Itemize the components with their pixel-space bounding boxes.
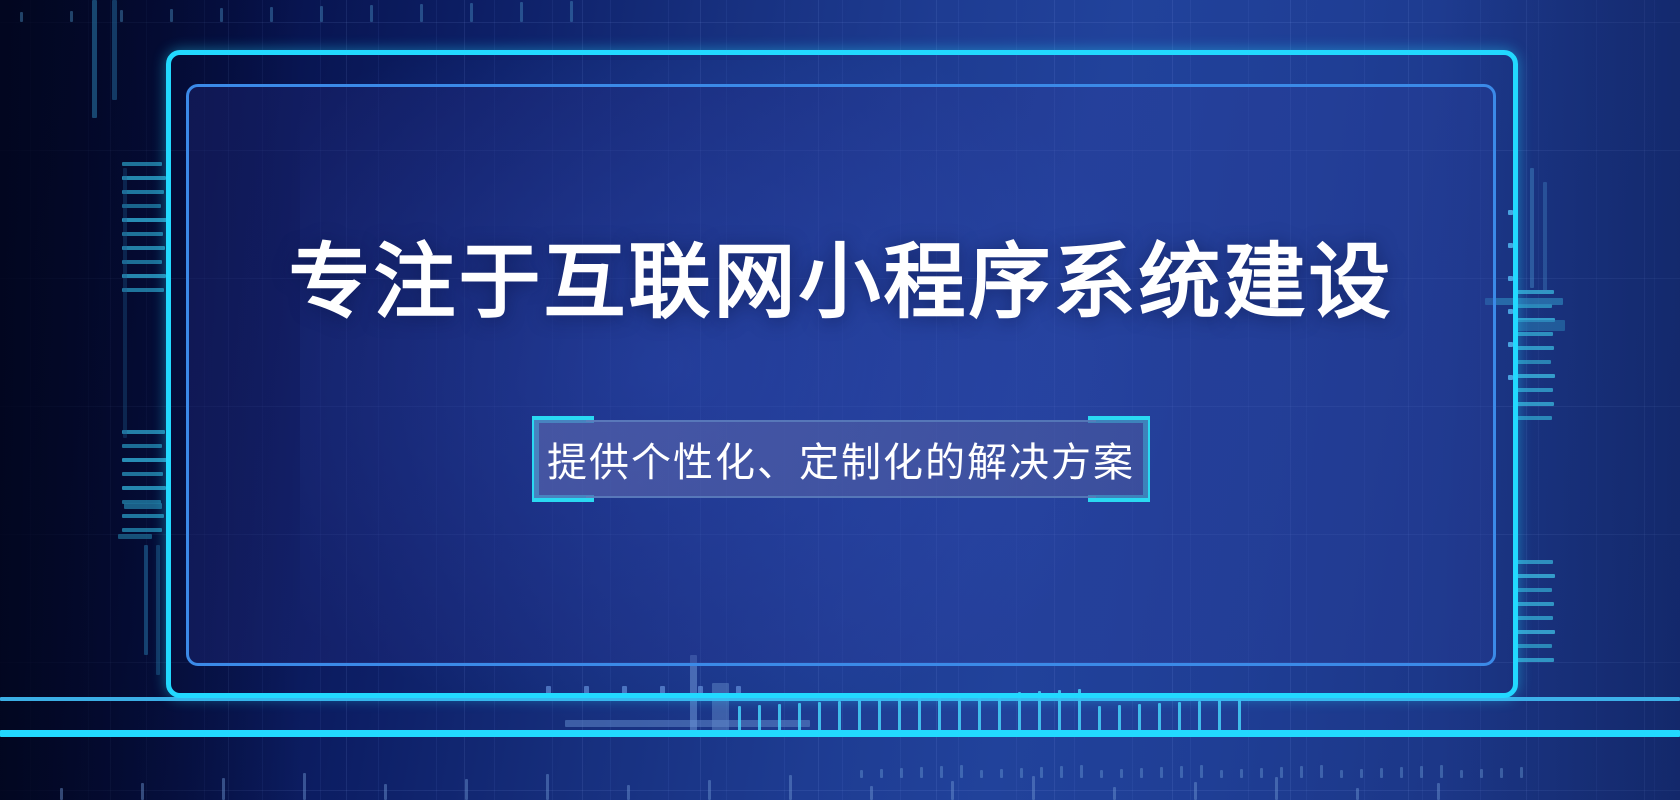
tick-mark [141,783,144,800]
tick-mark [1360,769,1363,778]
tick-mark [1194,782,1197,800]
tick-rung [122,500,161,504]
tick-mark [1280,767,1283,778]
tick-rung [122,486,166,490]
tick-mark [303,773,306,800]
tick-rung [1516,402,1554,406]
tick-rung [122,176,166,180]
hero-banner: 专注于互联网小程序系统建设 提供个性化、定制化的解决方案 [0,0,1680,800]
tick-rung [1516,644,1552,648]
accent-bar-right-wide [1485,298,1563,305]
tick-mark [1275,777,1278,800]
dot-column-right [1508,210,1513,408]
tick-mark [880,769,883,778]
tick-mark [1113,787,1116,800]
tick-row-bottom [738,688,1241,732]
tick-rung [122,472,163,476]
tick-mark [1480,769,1483,778]
tick-mark [870,786,873,800]
tick-mark [1100,770,1103,778]
dot-marker [1508,210,1513,215]
accent-bar-left-vert [144,545,148,655]
accent-bar-bottom-wide [565,720,810,727]
tick-mark [1380,768,1383,778]
accent-bar-tl-1 [92,0,97,118]
tick-mark [1220,770,1223,778]
tick-mark [818,702,821,732]
tick-rung [1516,630,1555,634]
accent-bar-left-vert-2 [156,545,160,675]
tick-ladder-right-upper [1516,290,1555,430]
tick-mark [546,774,549,800]
tick-mark [1198,701,1201,732]
tick-mark [1138,704,1141,732]
tick-row-top [20,0,573,22]
accent-bar-tl-2 [112,0,117,100]
tick-ladder-left-upper [122,162,167,302]
tick-mark [384,784,387,800]
tick-mark [1140,768,1143,778]
tick-mark [1420,766,1423,778]
tick-mark [898,698,901,732]
tick-rung [122,430,165,434]
tick-rung [1516,602,1554,606]
tick-rung [122,444,162,448]
tick-rung [122,274,166,278]
tick-mark [738,706,741,732]
accent-bar-left-wide [124,503,162,509]
tick-mark [1118,705,1121,732]
dot-row-bottom [546,686,774,698]
tick-mark [940,766,943,778]
dot-marker [1508,375,1513,380]
tick-mark [980,770,983,778]
tick-mark [222,778,225,800]
tick-rung [122,288,164,292]
rule-cyan-upper [0,697,1680,701]
tick-mark [1356,788,1359,800]
tick-mark [1020,768,1023,778]
dot-marker [1508,309,1513,314]
tick-mark [1500,768,1503,778]
tick-mark [758,705,761,732]
tick-mark [627,785,630,800]
tick-rung [122,218,167,222]
dot-marker [698,686,703,698]
tick-rung [1516,658,1554,662]
tick-mark [978,694,981,732]
accent-bar-bottom-tall [690,655,697,733]
tick-mark [1018,692,1021,732]
tick-mark [958,695,961,732]
tick-mark [170,9,173,22]
accent-bar-tl-3 [123,168,127,438]
tick-rung [122,190,164,194]
tick-mark [960,765,963,778]
tick-rung [1516,290,1554,294]
tick-mark [120,10,123,22]
tick-mark [370,5,373,22]
tick-mark [789,775,792,800]
tick-rung [122,162,162,166]
tick-ladder-right-lower [1516,560,1555,672]
tick-rung [122,458,167,462]
tick-rung [1516,388,1553,392]
tick-mark [860,770,863,778]
banner-subtitle: 提供个性化、定制化的解决方案 [547,430,1135,488]
tick-mark [900,768,903,778]
tick-mark [420,4,423,22]
dot-marker [736,686,741,698]
tick-mark [920,767,923,778]
tick-mark [1060,766,1063,778]
tick-rung [122,514,164,518]
tick-mark [1400,767,1403,778]
tick-mark [20,12,23,22]
tick-mark [1160,767,1163,778]
tick-rung [122,528,162,532]
tick-mark [1058,690,1061,732]
tick-mark [1098,706,1101,732]
banner-subtitle-plate: 提供个性化、定制化的解决方案 [516,406,1166,512]
tick-mark [1032,776,1035,800]
dot-marker [622,686,627,698]
tick-mark [320,6,323,22]
dot-marker [1508,342,1513,347]
subtitle-background: 提供个性化、定制化的解决方案 [534,420,1148,498]
tick-mark [1340,770,1343,778]
tick-rung [1516,346,1554,350]
tick-mark [951,781,954,800]
tick-row-base [60,772,1440,800]
tick-mark [1260,768,1263,778]
tick-mark [1180,766,1183,778]
tick-mark [838,701,841,732]
tick-mark [220,8,223,22]
tick-rung [1516,332,1553,336]
accent-bar-bottom-block [712,683,729,733]
tick-rung [1516,616,1553,620]
dot-marker [660,686,665,698]
tick-mark [1218,700,1221,732]
tick-rung [1516,374,1555,378]
tick-mark [270,7,273,22]
banner-headline: 专注于互联网小程序系统建设 [288,238,1393,328]
tick-mark [1080,765,1083,778]
tick-mark [1520,767,1523,778]
tick-mark [70,11,73,22]
tick-mark [1200,765,1203,778]
tick-rung [1516,560,1553,564]
tick-rung [1516,304,1552,308]
tick-row-bottom-right [860,764,1523,778]
tick-rung [1516,574,1555,578]
tick-mark [1437,783,1440,800]
tick-mark [470,3,473,22]
tick-mark [520,2,523,22]
banner-content: 专注于互联网小程序系统建设 提供个性化、定制化的解决方案 [186,84,1496,666]
tick-mark [1300,766,1303,778]
tick-mark [1178,702,1181,732]
accent-bar-right-wide-2 [1513,320,1565,331]
tick-mark [778,704,781,732]
tick-mark [1078,689,1081,732]
tick-mark [878,699,881,732]
dot-marker [584,686,589,698]
tick-mark [1320,765,1323,778]
tick-mark [1238,699,1241,732]
tick-rung [122,246,165,250]
dot-marker [1508,243,1513,248]
tick-mark [798,703,801,732]
tick-mark [1040,767,1043,778]
accent-bar-left-wide-2 [118,534,152,539]
tick-mark [1240,769,1243,778]
tick-mark [1158,703,1161,732]
accent-bar-tr-1 [1530,168,1534,288]
rule-cyan-lower [0,730,1680,737]
tick-rung [1516,318,1555,322]
dot-marker [546,686,551,698]
tick-mark [1460,770,1463,778]
tick-mark [1440,765,1443,778]
tick-ladder-left-lower [122,430,167,542]
tick-rung [122,204,161,208]
accent-bar-tr-2 [1543,182,1547,292]
tick-mark [1120,769,1123,778]
tick-mark [858,700,861,732]
tick-mark [1000,769,1003,778]
tick-rung [1516,360,1551,364]
tick-rung [1516,588,1552,592]
tick-mark [465,779,468,800]
tick-mark [1038,691,1041,732]
tick-mark [570,1,573,22]
tick-rung [122,260,162,264]
tick-rung [122,232,163,236]
tick-mark [918,697,921,732]
tick-rung [1516,416,1552,420]
tick-mark [60,788,63,800]
tick-mark [938,696,941,732]
tick-mark [998,693,1001,732]
dot-marker [1508,276,1513,281]
tick-mark [708,780,711,800]
